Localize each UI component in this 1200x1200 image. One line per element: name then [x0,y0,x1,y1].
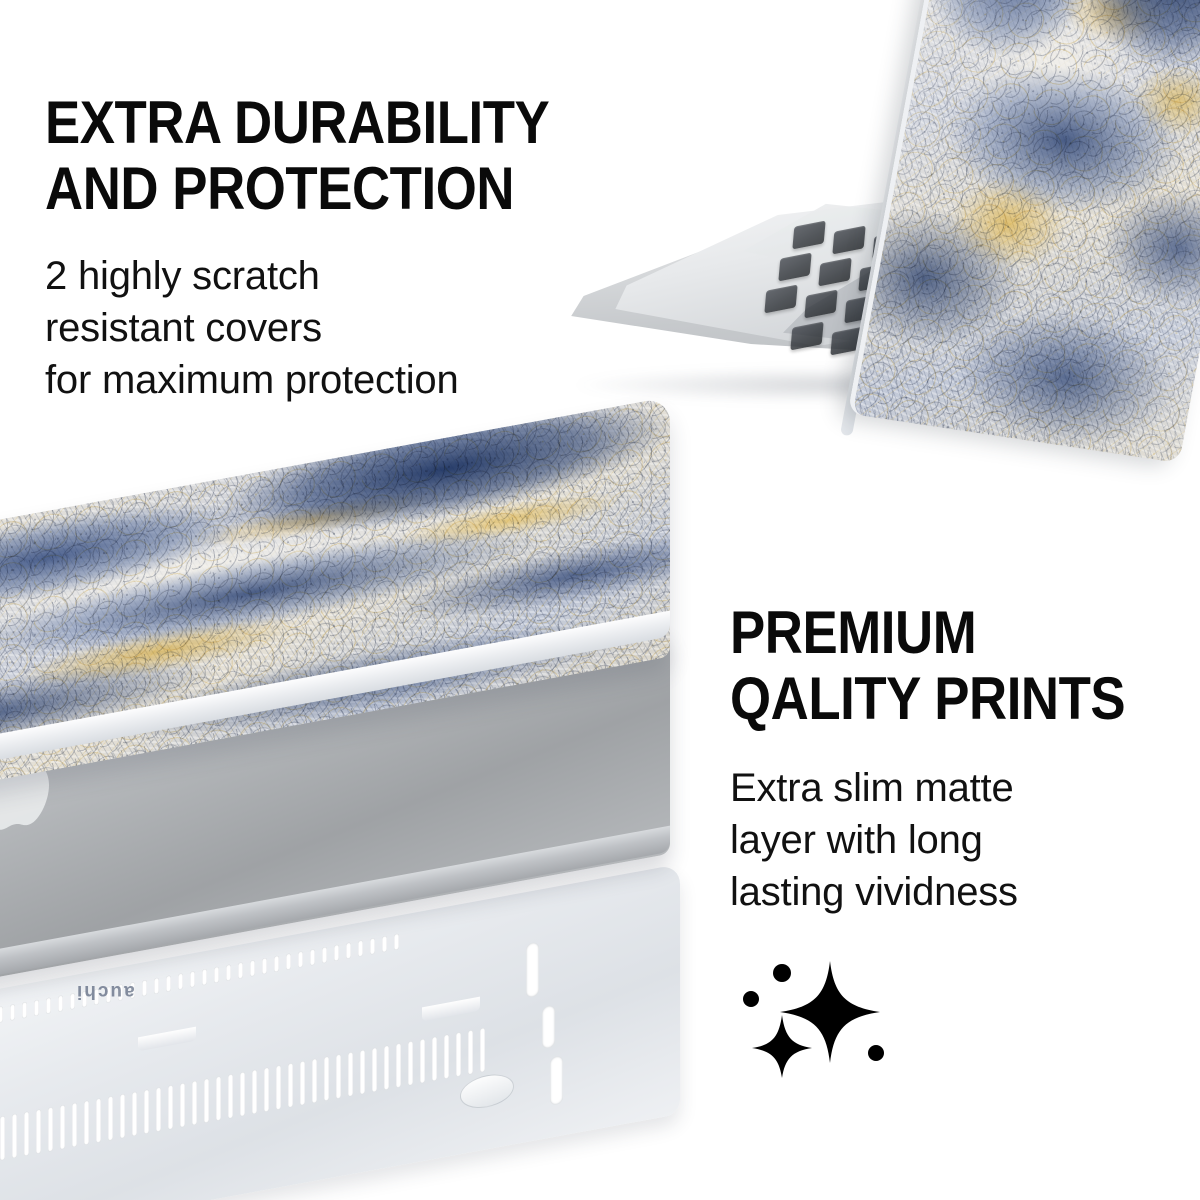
port-cutout-3 [550,1055,563,1105]
vent-slot [300,1061,305,1106]
vent-slot [252,1069,257,1114]
premium-body-line3: lasting vividness [730,866,1179,918]
vent-slot [60,1105,65,1150]
vent-slot [142,980,147,997]
vent-slot [240,1072,245,1117]
vent-slot [264,1067,269,1112]
premium-body-line2: layer with long [730,814,1179,866]
vent-slot [58,995,63,1012]
vent-slot [372,1047,377,1092]
premium-body-line1: Extra slim matte [730,762,1179,814]
vent-slot [262,958,267,975]
vent-slot [360,1050,365,1095]
vent-slot [216,1076,221,1121]
port-cutout-2 [542,1005,555,1049]
vent-slot [288,1063,293,1108]
vent-slot [348,1052,353,1097]
vent-slot [202,969,207,986]
vent-slot [276,1065,281,1110]
exploded-case-stack-photo: auchi [0,470,730,1200]
vent-slot [192,1080,197,1125]
vent-slot [34,999,39,1016]
vent-slot [180,1083,185,1128]
durability-body-line3: for maximum protection [45,354,618,406]
feature-durability-text: EXTRA DURABILITY AND PROTECTION 2 highly… [45,90,618,406]
vent-slot [336,1054,341,1099]
vent-slot [370,938,375,955]
vent-slot [144,1089,149,1134]
keyboard-key [790,322,823,351]
vent-slot [432,1036,437,1081]
vent-slot [346,942,351,959]
vent-slot [358,940,363,957]
vent-slot [274,955,279,972]
premium-headline-line2: QALITY PRINTS [730,666,1125,732]
durability-body-line2: resistant covers [45,302,618,354]
vent-slot [408,1041,413,1086]
vent-row-main [0,1028,485,1187]
vent-slot [396,1043,401,1088]
vent-slot [22,1002,27,1019]
vent-slot [228,1074,233,1119]
vent-slot [24,1111,29,1156]
vent-slot [132,1091,137,1136]
durability-body-line1: 2 highly scratch [45,250,618,302]
durability-headline-line1: EXTRA DURABILITY [45,90,549,156]
keyboard-key [832,226,865,255]
vent-slot [84,1100,89,1145]
vent-slot [166,975,171,992]
vent-slot [178,973,183,990]
vent-slot [324,1056,329,1101]
vent-slot [312,1058,317,1103]
vent-slot [286,953,291,970]
vent-slot [310,949,315,966]
vent-slot [384,1045,389,1090]
keyboard-key [764,285,797,314]
vent-slot [120,1094,125,1139]
vent-slot [10,1004,15,1021]
vent-slot [322,947,327,964]
vent-slot [480,1028,485,1073]
vent-slot [444,1034,449,1079]
vent-slot [168,1085,173,1130]
durability-headline-line2: AND PROTECTION [45,156,549,222]
vent-slot [46,997,51,1014]
port-cutout-1 [526,942,539,998]
vent-slot [190,971,195,988]
vent-slot [420,1039,425,1084]
vent-slot [394,933,399,950]
premium-body: Extra slim matte layer with long lasting… [730,762,1179,918]
vent-slot [48,1107,53,1152]
vent-slot [298,951,303,968]
vent-slot [12,1114,17,1159]
keyboard-key [778,253,811,282]
marketing-image-canvas: HDMI ⚭ EXTRA DURABILITY AND PROTECTION 2… [0,0,1200,1200]
vent-slot [250,960,255,977]
sparkle-icon [742,955,892,1080]
durability-body: 2 highly scratch resistant covers for ma… [45,250,618,406]
vent-slot [108,1096,113,1141]
premium-headline-line1: PREMIUM [730,600,1125,666]
brand-mark: auchi [75,980,135,1002]
vent-slot [96,1098,101,1143]
marble-case-lid [847,0,1200,463]
vent-slot [456,1032,461,1077]
vent-slot [382,936,387,953]
vent-slot [156,1087,161,1132]
feature-premium-text: PREMIUM QALITY PRINTS Extra slim matte l… [730,600,1179,918]
vent-slot [154,977,159,994]
vent-slot [0,1006,3,1023]
keyboard-key [792,221,825,250]
lid-gloss-highlight [852,0,1200,463]
vent-slot [468,1030,473,1075]
vent-slot [204,1078,209,1123]
vent-slot [226,964,231,981]
vent-slot [72,1103,77,1148]
vent-slot [0,1116,5,1161]
keyboard-key [804,290,837,319]
open-macbook-photo: HDMI ⚭ [545,0,1200,460]
vent-slot [36,1109,41,1154]
vent-slot [238,962,243,979]
vent-slot [334,944,339,961]
vent-slot [214,966,219,983]
keyboard-key [818,258,851,287]
